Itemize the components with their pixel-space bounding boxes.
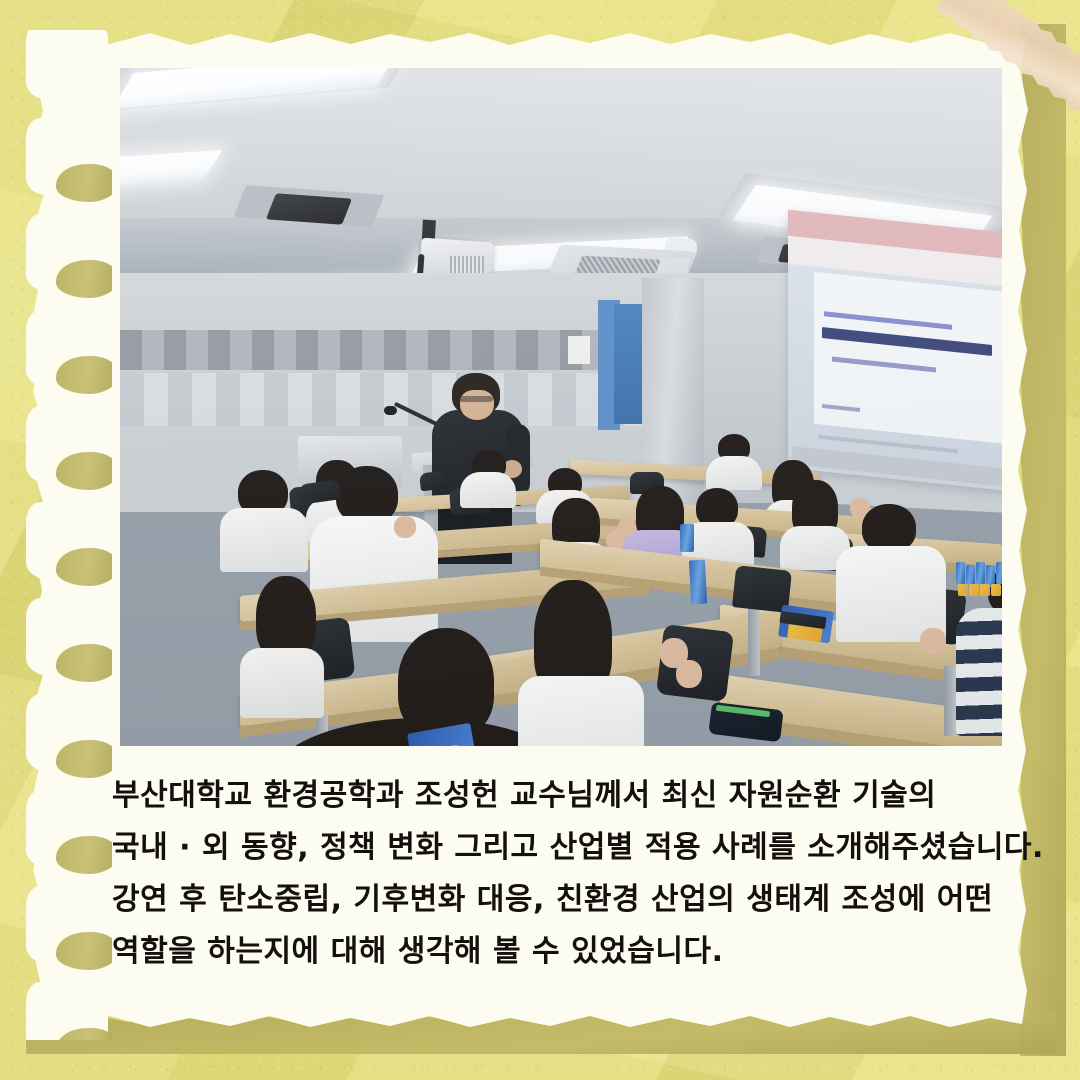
microphone-head <box>384 406 397 415</box>
olive-torn-patch <box>56 548 112 586</box>
desk-leg <box>944 666 956 736</box>
student-hand <box>676 660 702 688</box>
laptop <box>419 471 447 492</box>
drink-can <box>996 562 1002 584</box>
student-shirt <box>220 508 308 572</box>
presenter-face <box>460 390 494 420</box>
student-shirt <box>518 676 644 746</box>
student-hand <box>920 628 946 654</box>
olive-torn-band-right <box>1020 24 1066 1056</box>
drink-can <box>976 562 985 584</box>
snack-item <box>991 584 1001 596</box>
stamp-perforation-column <box>26 30 112 1040</box>
olive-torn-patch <box>56 740 112 778</box>
caption-line-1: 부산대학교 환경공학과 조성헌 교수님께서 최신 자원순환 기술의 <box>112 770 1012 822</box>
olive-torn-patch <box>56 452 112 490</box>
caption-line-2: 국내 · 외 동향, 정책 변화 그리고 산업별 적용 사례를 소개해주셨습니다… <box>112 822 1012 874</box>
drink-can <box>680 524 694 552</box>
student-shirt <box>706 456 762 490</box>
olive-torn-patch <box>56 932 112 970</box>
snack-item <box>958 584 968 596</box>
snack-item <box>969 584 979 596</box>
olive-torn-patch <box>56 356 112 394</box>
caption-block: 부산대학교 환경공학과 조성헌 교수님께서 최신 자원순환 기술의 국내 · 외… <box>112 770 1012 978</box>
student-hand <box>394 516 416 538</box>
student-shirt <box>460 472 516 508</box>
caption-line-3: 강연 후 탄소중립, 기후변화 대응, 친환경 산업의 생태계 조성에 어떤 <box>112 874 1012 926</box>
desk-leg <box>748 602 760 676</box>
olive-torn-patch <box>56 836 112 874</box>
classroom-lecture-photo <box>120 68 1002 746</box>
scrapbook-card: 부산대학교 환경공학과 조성헌 교수님께서 최신 자원순환 기술의 국내 · 외… <box>0 0 1080 1080</box>
olive-torn-patch <box>56 164 112 202</box>
ceiling-speaker <box>266 193 352 224</box>
drink-can <box>956 562 965 584</box>
olive-torn-patch <box>56 260 112 298</box>
olive-torn-patch <box>56 644 112 682</box>
student-striped-shirt <box>956 608 1002 736</box>
student-shirt <box>240 648 324 718</box>
caption-line-4: 역할을 하는지에 대해 생각해 볼 수 있었습니다. <box>112 926 1012 978</box>
presenter-glasses <box>459 396 493 402</box>
student-head <box>862 504 916 552</box>
wall-tile-band <box>120 373 680 427</box>
stamp-tooth <box>26 30 108 100</box>
drink-can <box>689 560 707 605</box>
snack-item <box>980 584 990 596</box>
wall-notice <box>568 336 590 364</box>
wall-tile-band <box>120 330 680 370</box>
